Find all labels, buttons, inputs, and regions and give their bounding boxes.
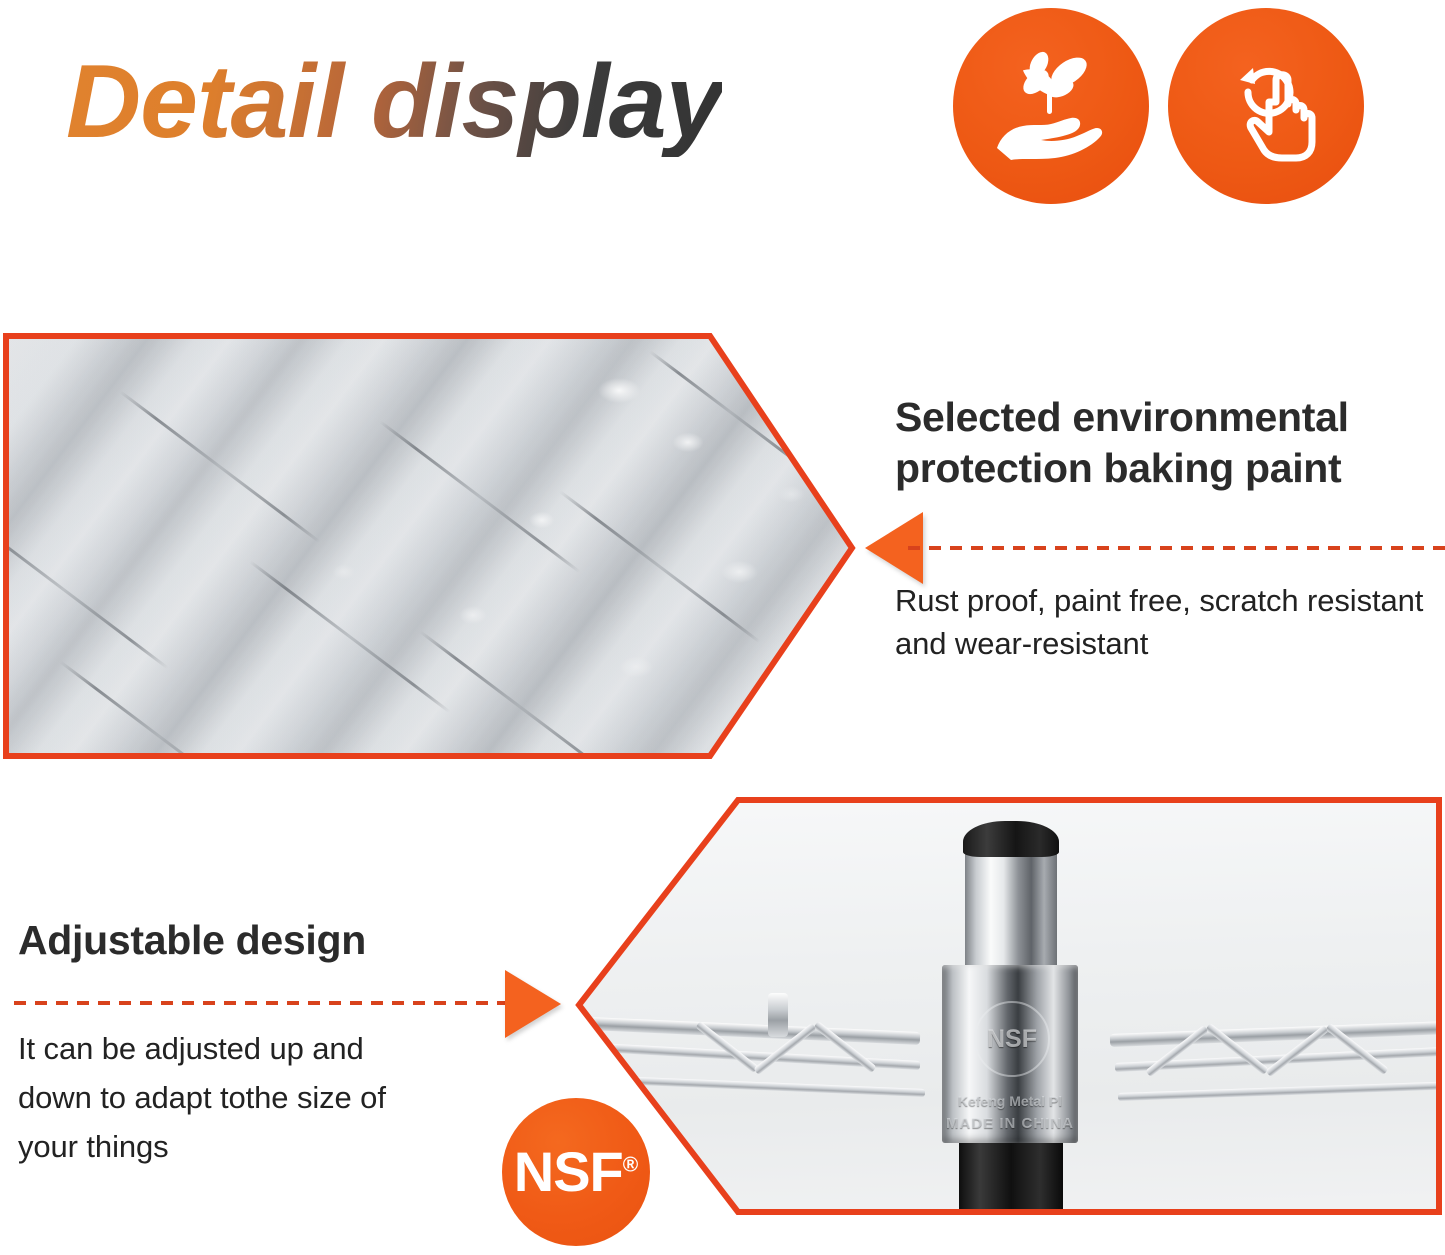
page-title: Detail display [66,48,722,157]
callout-body-baking-paint: Rust proof, paint free, scratch resistan… [895,580,1440,666]
callout-dashed-line-bottom [14,1001,508,1005]
callout-heading-baking-paint: Selected environmental protection baking… [895,392,1443,494]
callout-dashed-line-top [908,546,1445,550]
callout-heading-adjustable-design: Adjustable design [18,915,488,966]
callout-arrow-right-icon [505,970,561,1038]
adjustable-hand-click-icon [1168,8,1364,204]
nsf-certification-badge: NSF® [502,1098,650,1246]
collar-origin-text: MADE IN CHINA [942,1115,1078,1132]
shelf-collar-photo-frame: NSF Kefeng Metal Pl MADE IN CHINA [570,793,1445,1219]
shelf-collar: NSF Kefeng Metal Pl MADE IN CHINA [942,965,1078,1143]
collar-nsf-emboss: NSF [974,1001,1050,1077]
detail-display-page: Detail display [0,0,1445,1255]
collar-brand-text: Kefeng Metal Pl [942,1093,1078,1109]
nsf-label: NSF® [514,1144,638,1200]
chrome-poles-photo-frame [0,330,860,762]
eco-hand-plant-icon [953,8,1149,204]
registered-mark: ® [623,1153,638,1176]
callout-body-adjustable-design: It can be adjusted up and down to adapt … [18,1025,438,1172]
